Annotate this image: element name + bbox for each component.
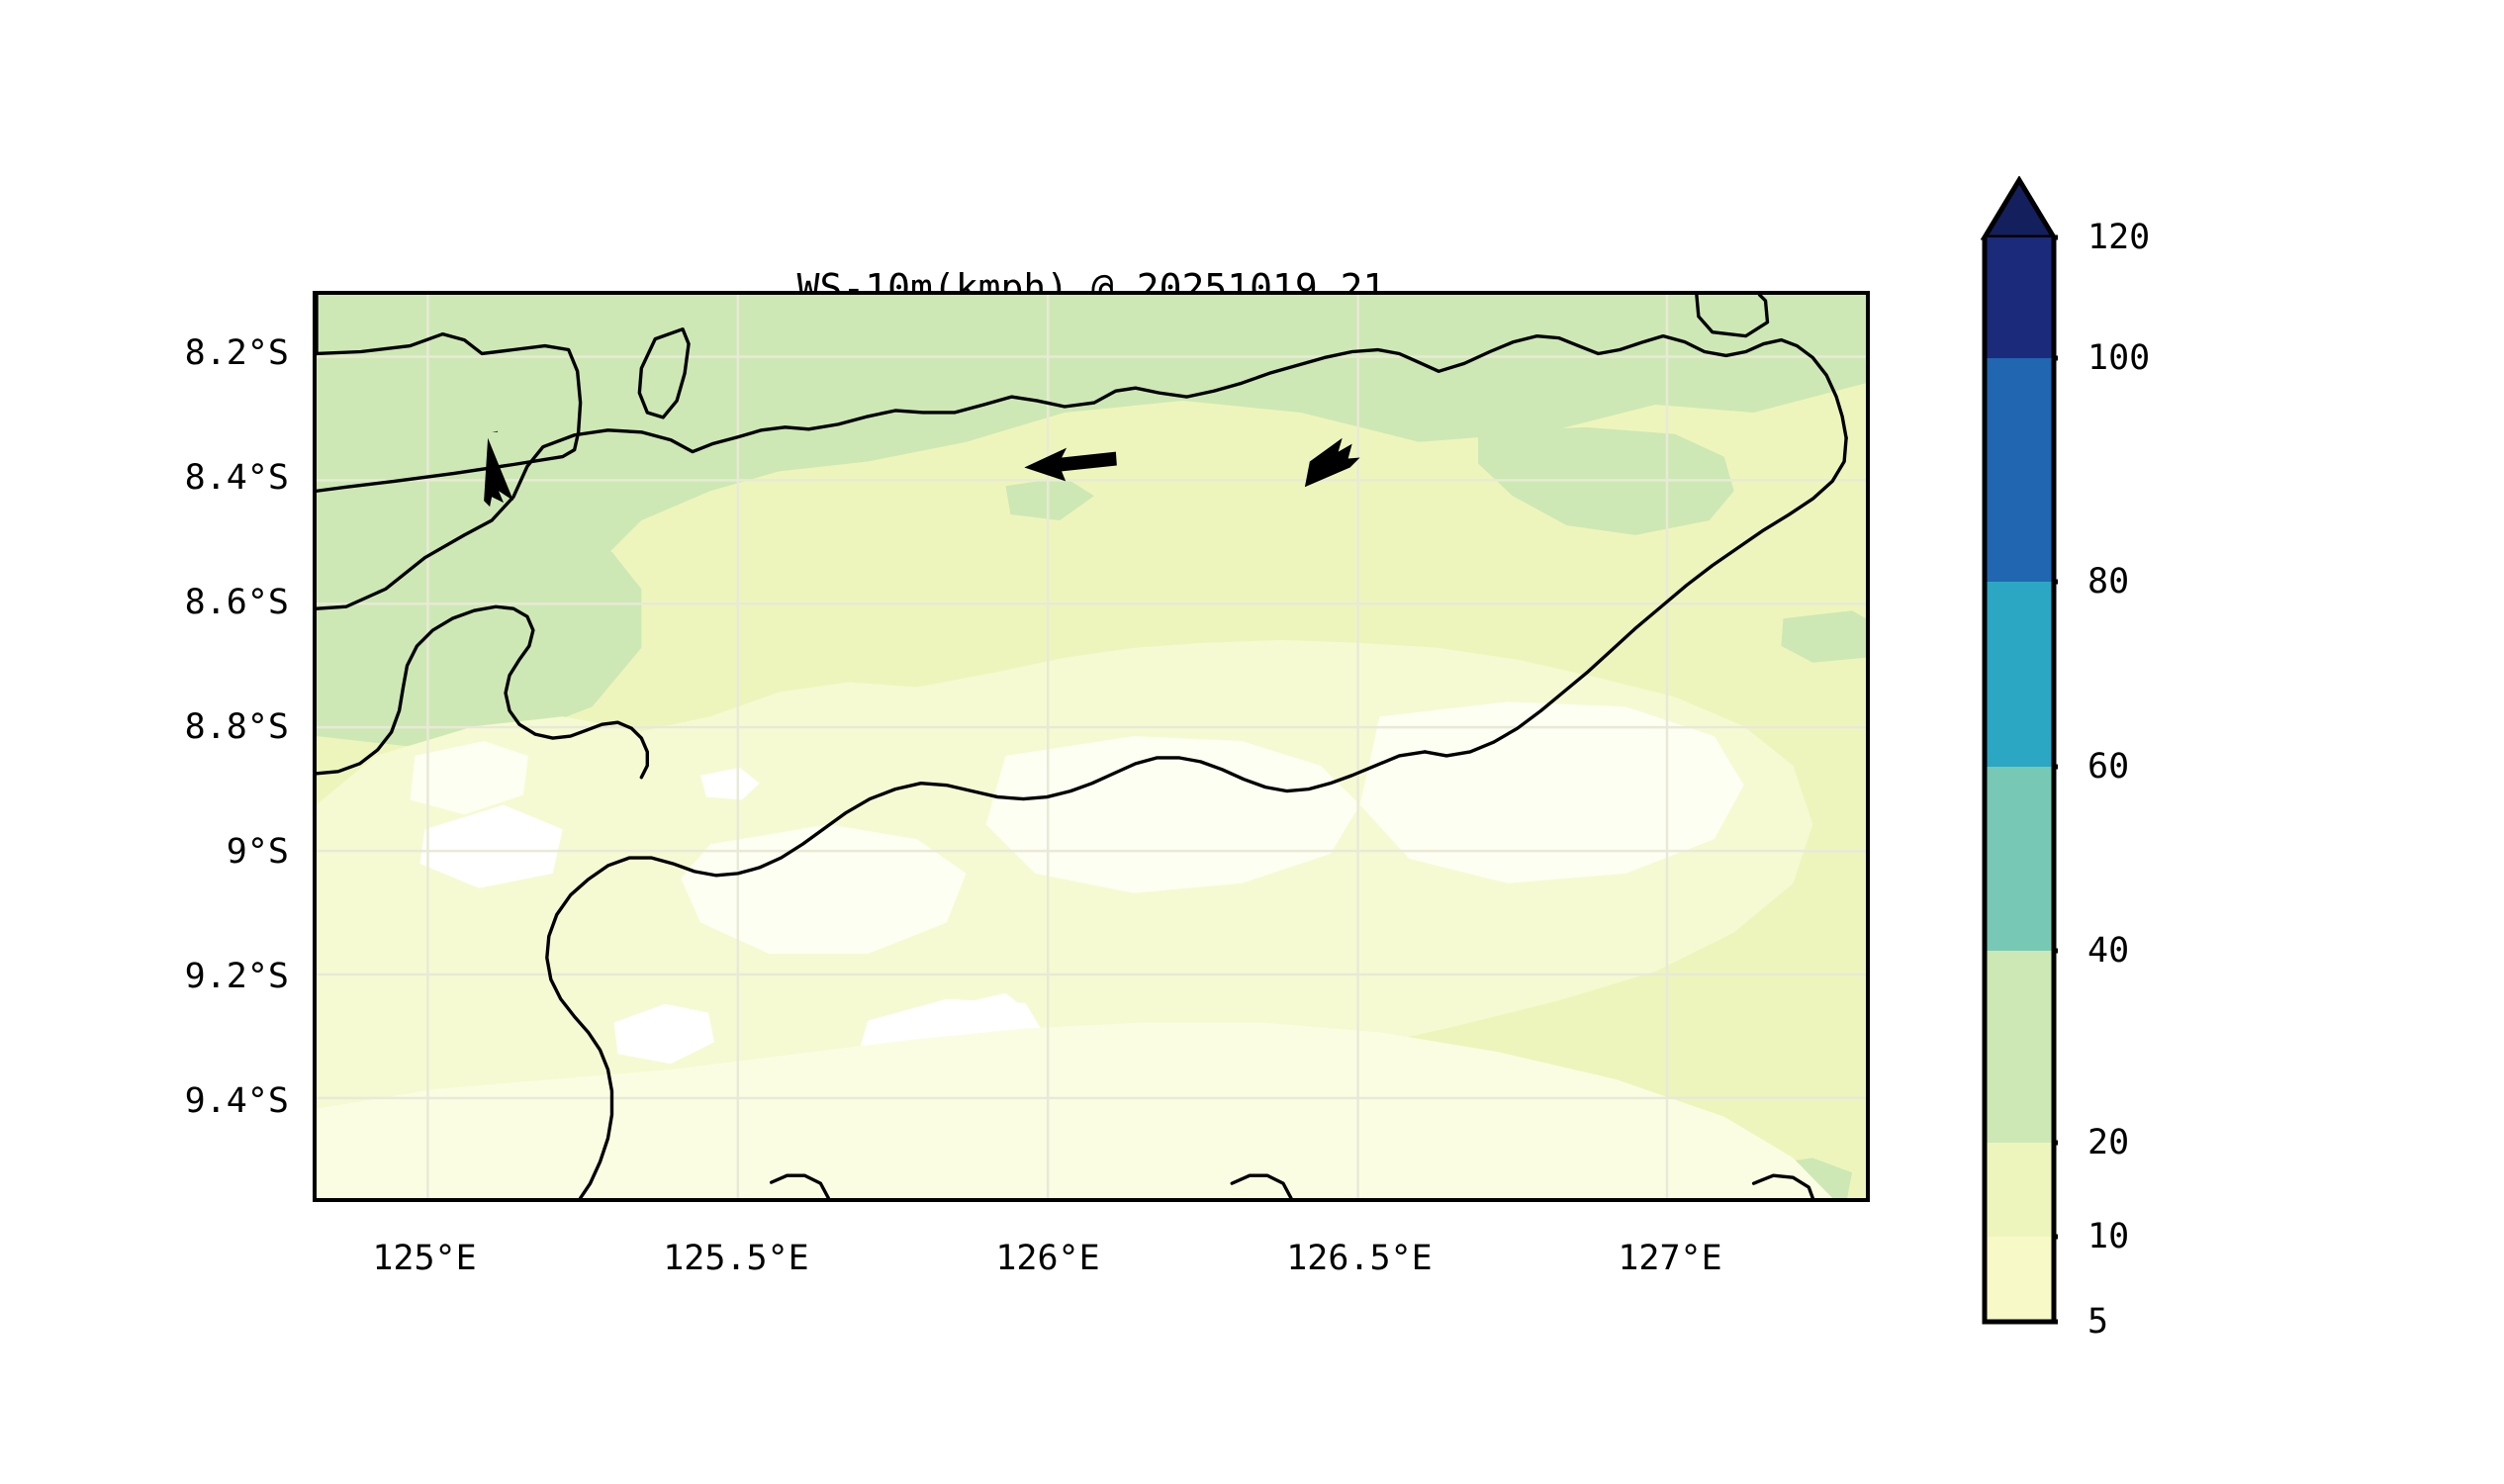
colorbar-tick-label-20: 20	[2087, 1123, 2129, 1162]
ytick-label-8.6S: 8.6°S	[32, 583, 289, 622]
colorbar-tick-label-80: 80	[2087, 562, 2129, 602]
ytick-label-8.8S: 8.8°S	[32, 707, 289, 747]
colorbar-band-60-80	[1985, 582, 2054, 767]
colorbar-tick-label-60: 60	[2087, 747, 2129, 787]
colorbar-band-5-10	[1985, 1237, 2054, 1322]
xtick-label-126.5E: 126.5°E	[1231, 1239, 1488, 1278]
colorbar-extend-max-cap	[1985, 180, 2054, 237]
colorbar-tick-label-100: 100	[2087, 338, 2150, 378]
map-canvas	[317, 295, 1866, 1198]
ytick-label-9.2S: 9.2°S	[32, 957, 289, 996]
colorbar-band-10-20	[1985, 1143, 2054, 1237]
colorbar-tick-label-5: 5	[2087, 1302, 2108, 1342]
xtick-label-125.5E: 125.5°E	[607, 1239, 865, 1278]
ytick-label-9S: 9°S	[32, 832, 289, 872]
colorbar-canvas	[1981, 176, 2058, 1326]
colorbar-band-40-60	[1985, 767, 2054, 951]
ytick-label-9.4S: 9.4°S	[32, 1081, 289, 1121]
colorbar[interactable]	[1981, 176, 2058, 1326]
colorbar-band-100-120	[1985, 237, 2054, 358]
colorbar-tick-label-120: 120	[2087, 218, 2150, 257]
colorbar-band-80-100	[1985, 358, 2054, 582]
map-plot-area[interactable]	[313, 291, 1870, 1202]
colorbar-tick-label-40: 40	[2087, 931, 2129, 971]
colorbar-band-20-40	[1985, 951, 2054, 1143]
xtick-label-127E: 127°E	[1541, 1239, 1799, 1278]
colorbar-tick-label-10: 10	[2087, 1217, 2129, 1256]
xtick-label-125E: 125°E	[296, 1239, 553, 1278]
ytick-label-8.2S: 8.2°S	[32, 333, 289, 373]
xtick-label-126E: 126°E	[919, 1239, 1176, 1278]
ytick-label-8.4S: 8.4°S	[32, 458, 289, 498]
